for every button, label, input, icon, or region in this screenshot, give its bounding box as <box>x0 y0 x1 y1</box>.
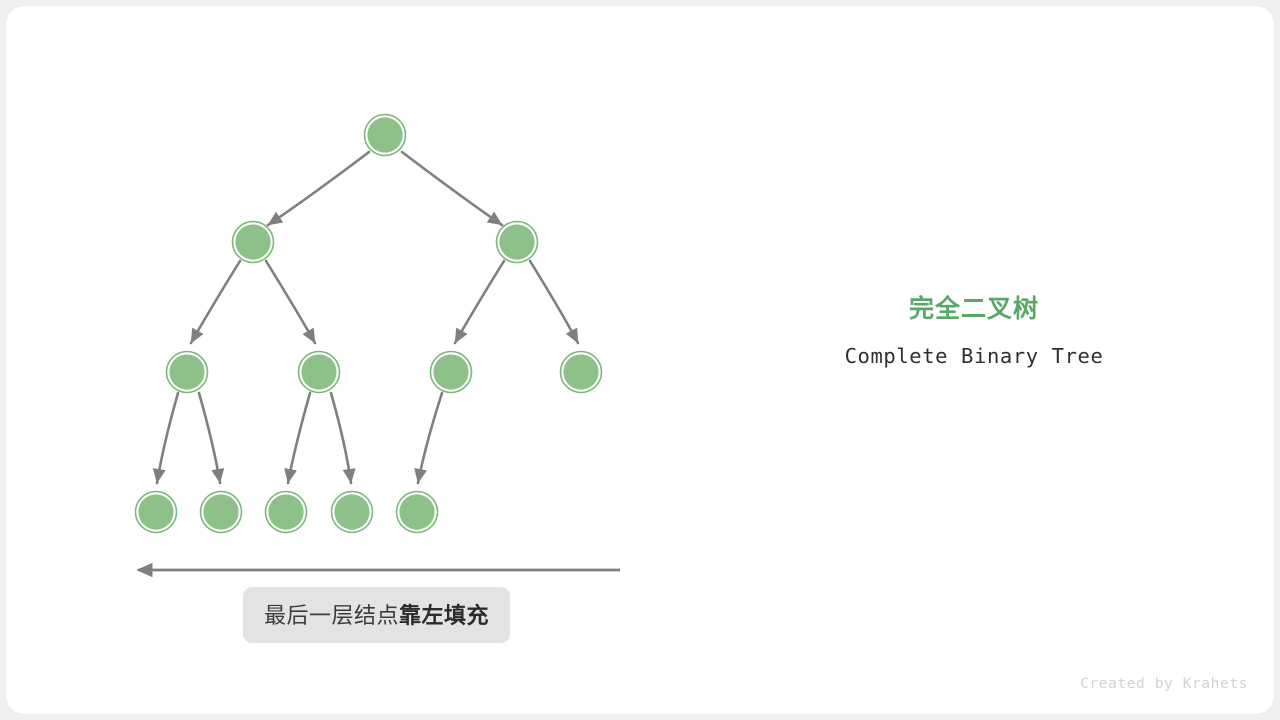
watermark-credit: Created by Krahets <box>1080 676 1248 692</box>
caption-text-normal: 最后一层结点 <box>264 603 399 628</box>
tree-node-level2-1[interactable] <box>299 352 340 393</box>
tree-node-level2-3[interactable] <box>561 352 602 393</box>
caption-text-emphasis: 靠左填充 <box>399 603 489 628</box>
tree-node-level2-2[interactable] <box>431 352 472 393</box>
tree-node-level1-1[interactable] <box>497 222 538 263</box>
edge-root-to-left <box>268 152 369 225</box>
tree-node-level3-1[interactable] <box>201 492 242 533</box>
edge-l1a-to-right <box>266 261 315 343</box>
tree-node-level3-3[interactable] <box>332 492 373 533</box>
edge-l2b-to-left <box>288 393 310 483</box>
tree-edges <box>157 152 578 483</box>
edge-l1b-to-left <box>455 261 504 343</box>
edge-l1a-to-left <box>191 261 240 343</box>
tree-node-level1-0[interactable] <box>233 222 274 263</box>
page-title: 完全二叉树 <box>768 294 1180 324</box>
tree-node-root[interactable] <box>365 115 406 156</box>
tree-nodes <box>136 115 602 533</box>
tree-node-level3-4[interactable] <box>397 492 438 533</box>
tree-node-level3-0[interactable] <box>136 492 177 533</box>
edge-l2a-to-right <box>199 393 220 483</box>
page-subtitle: Complete Binary Tree <box>768 343 1180 369</box>
edge-l2b-to-right <box>331 393 351 483</box>
edge-l2a-to-left <box>157 393 178 483</box>
diagram-card: 完全二叉树 Complete Binary Tree 最后一层结点靠左填充 Cr… <box>6 6 1274 714</box>
caption-container: 最后一层结点靠左填充 <box>225 587 528 643</box>
caption-badge: 最后一层结点靠左填充 <box>243 587 510 643</box>
screenshot-stage: 完全二叉树 Complete Binary Tree 最后一层结点靠左填充 Cr… <box>0 0 1280 720</box>
edge-l1b-to-right <box>530 261 578 343</box>
edge-l2c-to-left <box>418 393 442 483</box>
tree-node-level3-2[interactable] <box>266 492 307 533</box>
diagram-title-block: 完全二叉树 Complete Binary Tree <box>768 294 1180 369</box>
edge-root-to-right <box>402 152 502 225</box>
tree-node-level2-0[interactable] <box>167 352 208 393</box>
